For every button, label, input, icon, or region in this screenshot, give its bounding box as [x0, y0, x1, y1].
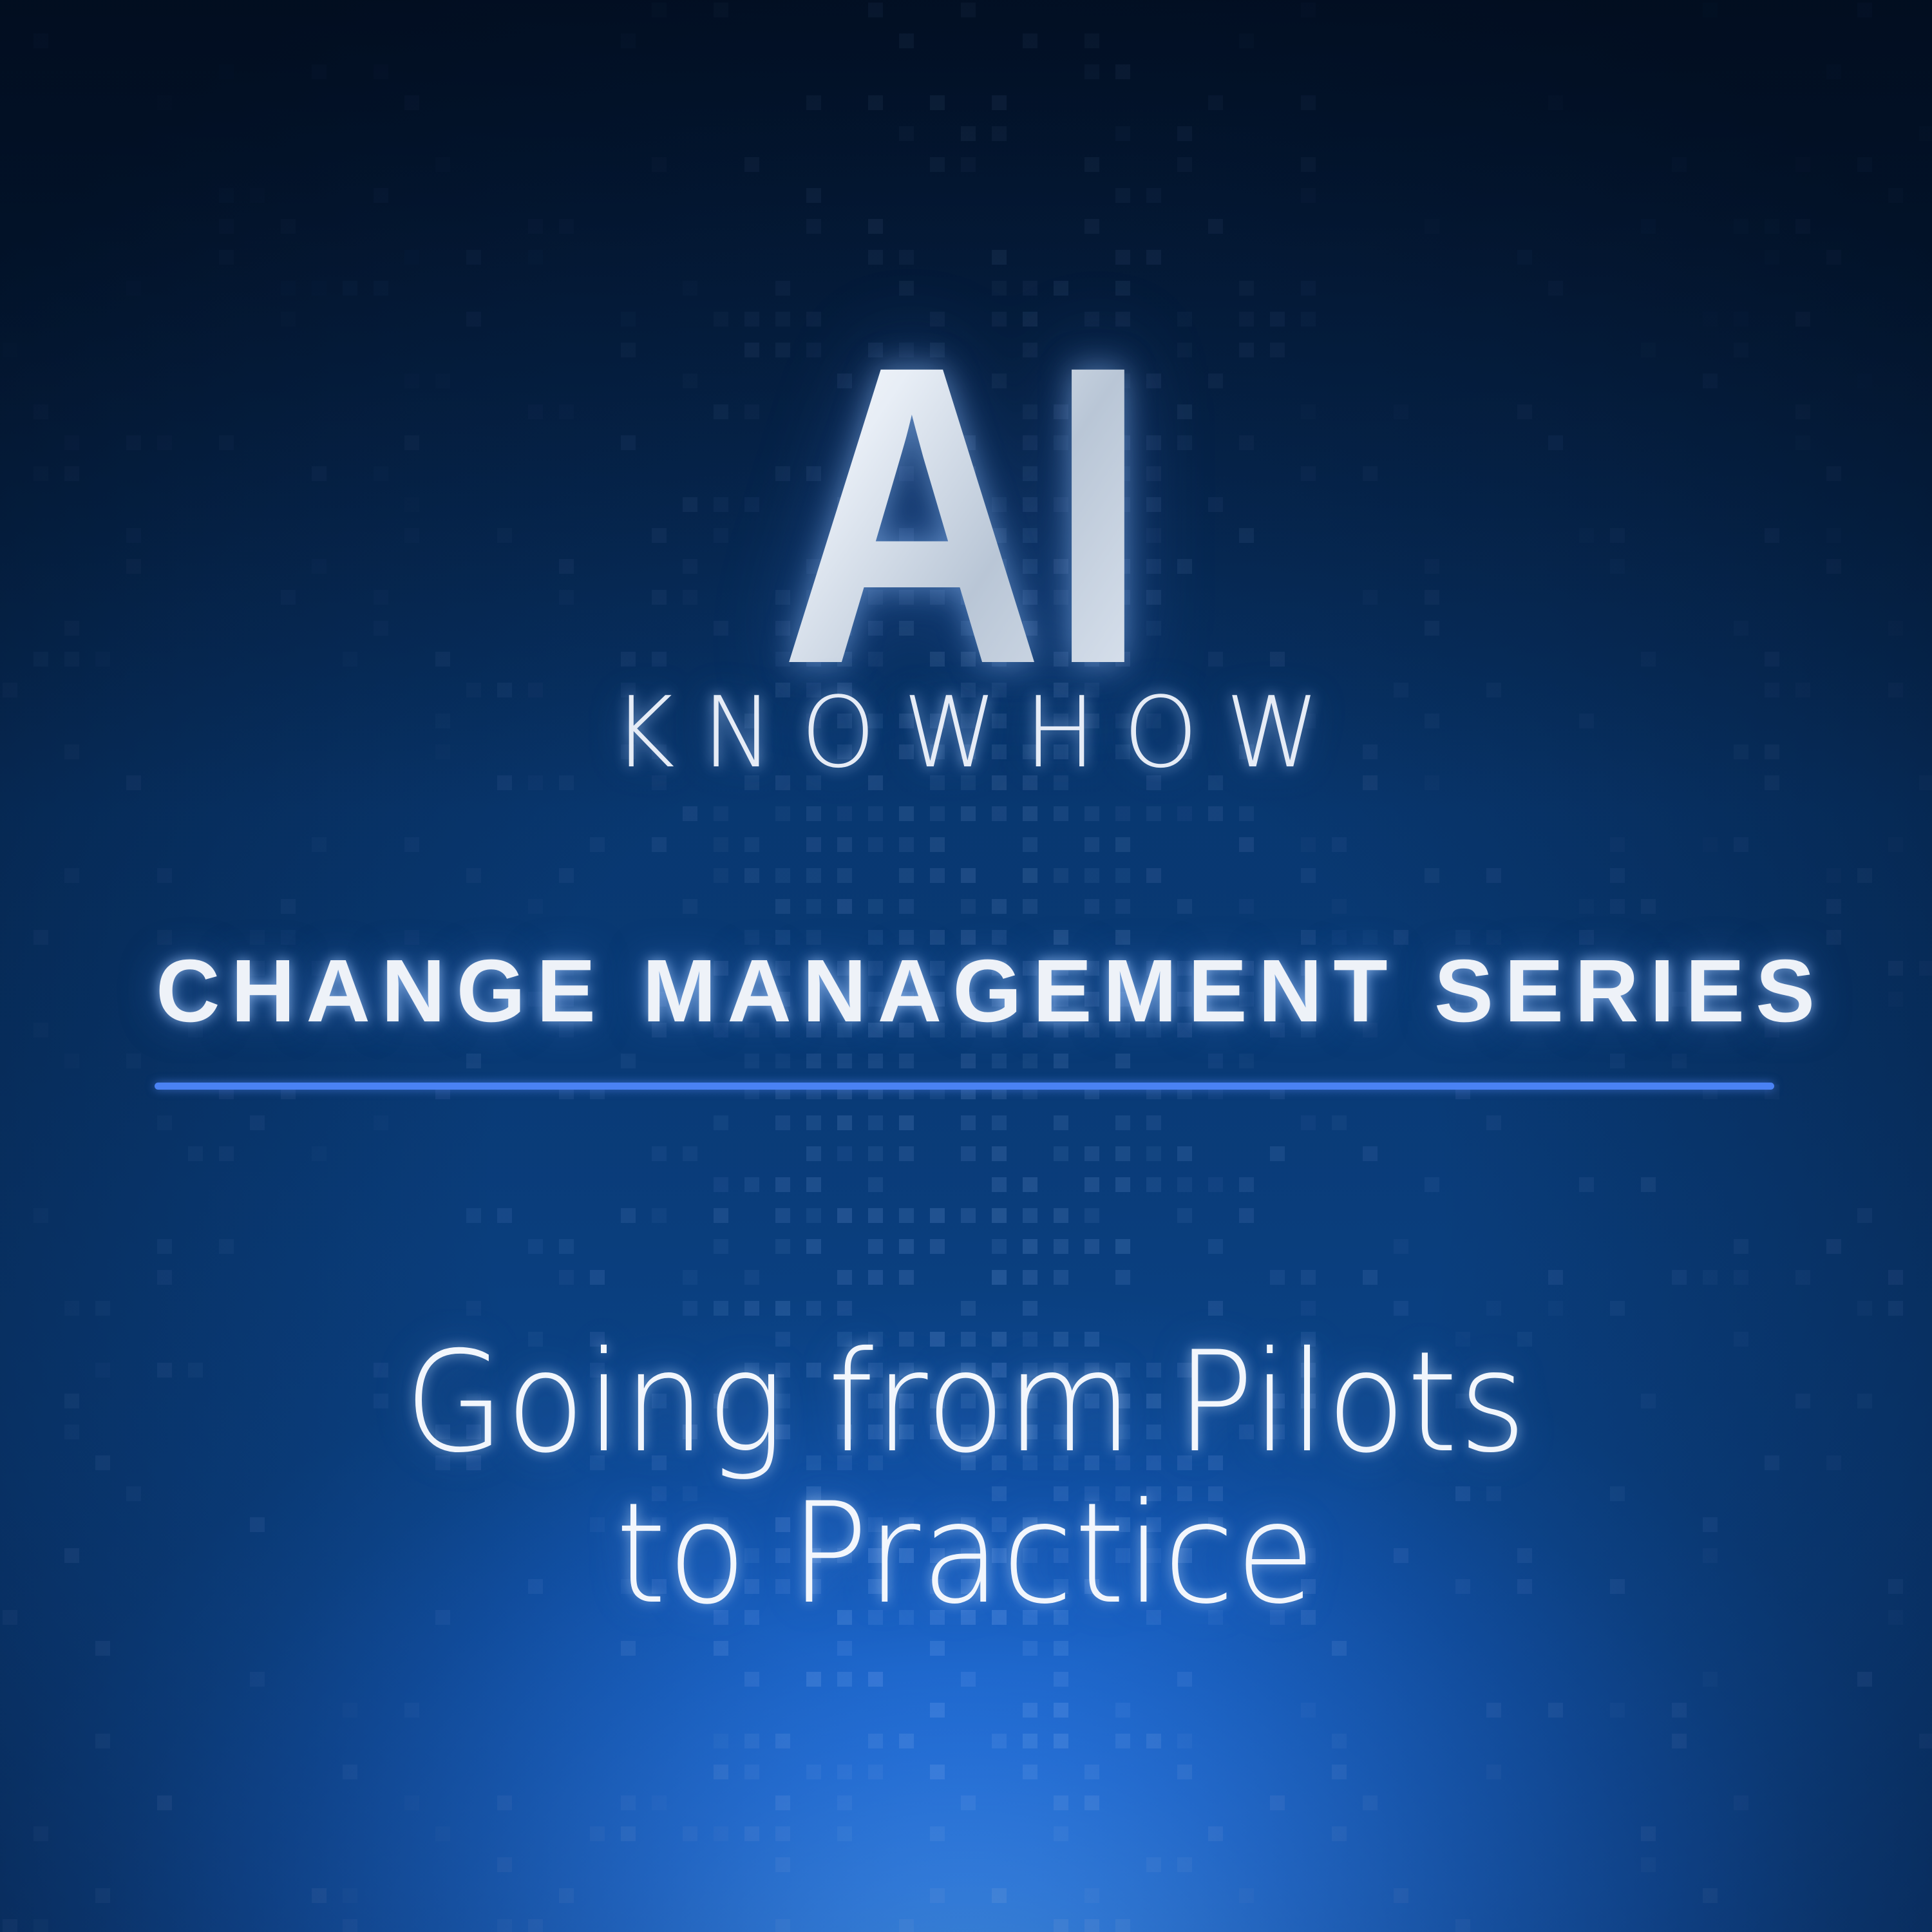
series-band: CHANGE MANAGEMENT SERIES [155, 947, 1777, 1090]
ai-logo-wordmark: AI [135, 303, 1797, 728]
episode-title-line-2: to Practice [68, 1478, 1864, 1629]
series-label: CHANGE MANAGEMENT SERIES [155, 947, 1777, 1036]
cover-art-canvas: AI KNOWHOW CHANGE MANAGEMENT SERIES Goin… [0, 0, 1932, 1932]
content-stack: AI KNOWHOW CHANGE MANAGEMENT SERIES Goin… [0, 0, 1932, 1932]
episode-title: Going from Pilots to Practice [68, 1327, 1864, 1630]
series-divider-rule [155, 1083, 1774, 1090]
episode-title-line-1: Going from Pilots [68, 1327, 1864, 1478]
ai-logo-subtext: KNOWHOW [29, 684, 1903, 782]
